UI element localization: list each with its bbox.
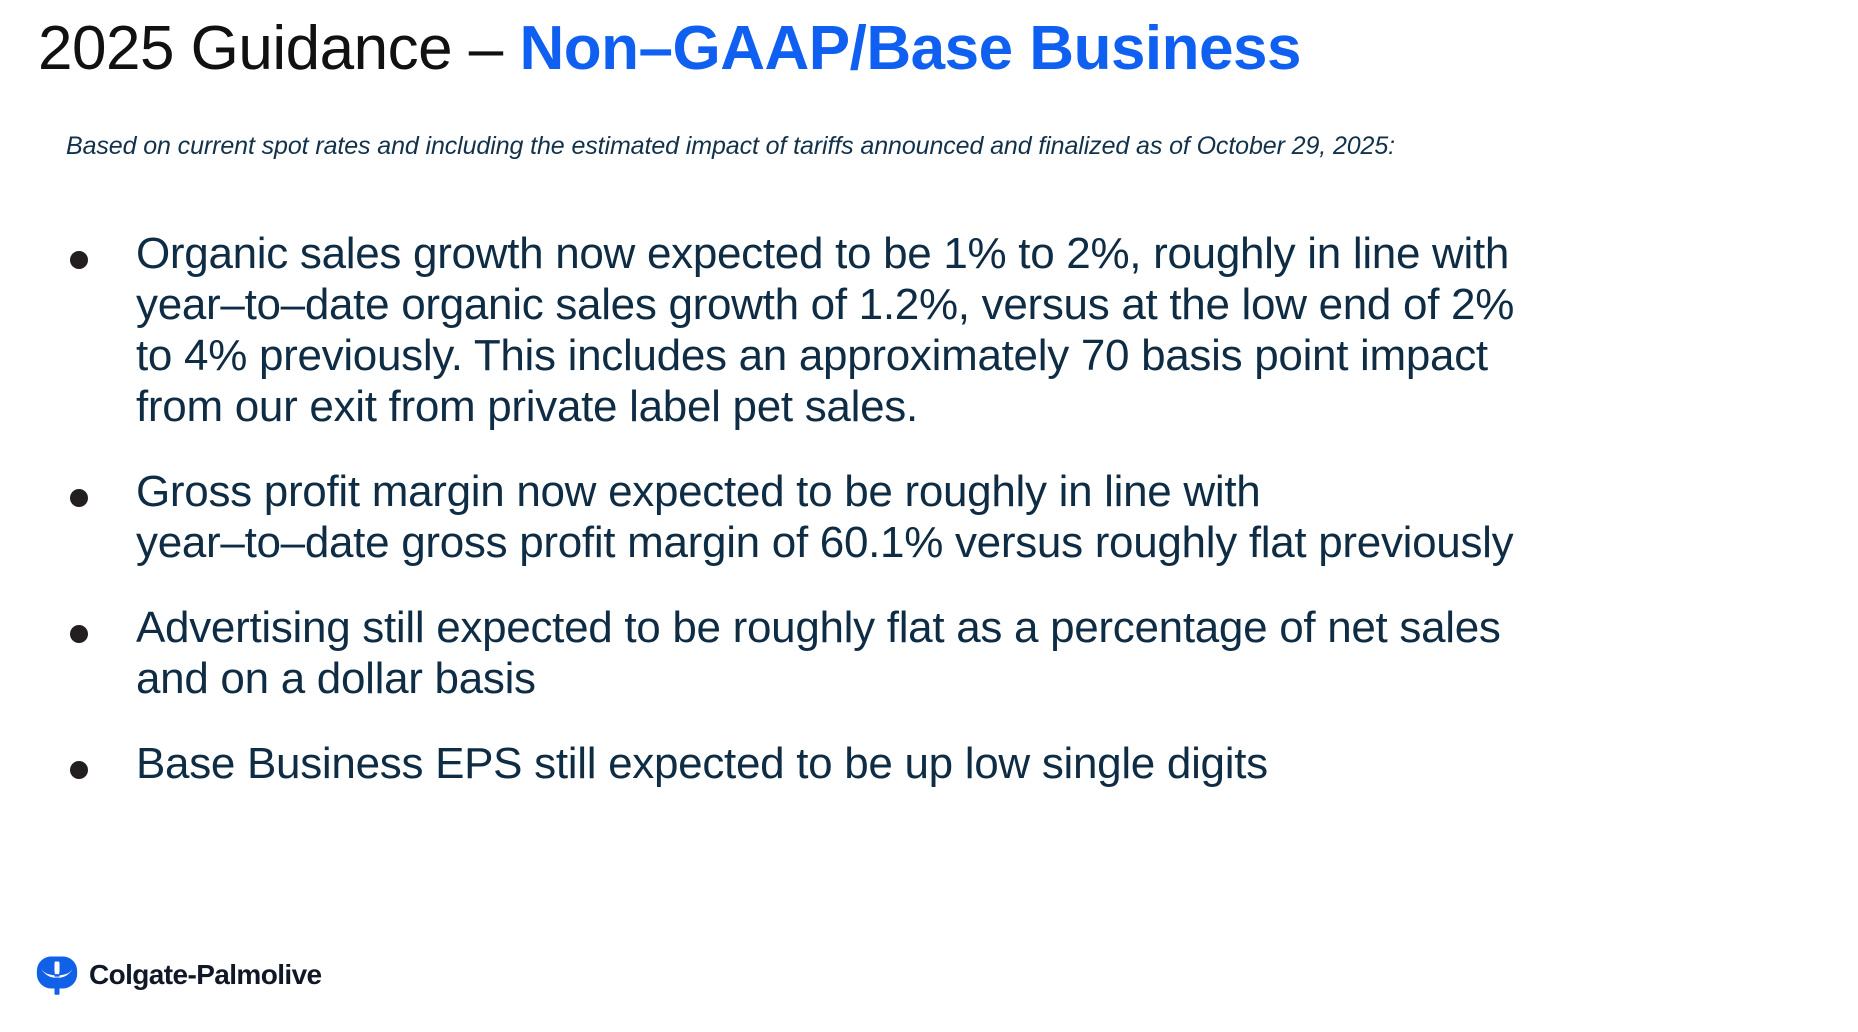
bullet-line: Base Business EPS still expected to be u… <box>136 738 1850 789</box>
bullet-text-organic-sales-growth: Organic sales growth now expected to be … <box>136 228 1850 432</box>
bullet-line: to 4% previously. This includes an appro… <box>136 330 1850 381</box>
bullet-line: Gross profit margin now expected to be r… <box>136 466 1850 517</box>
bullet-line: Advertising still expected to be roughly… <box>136 602 1850 653</box>
colgate-palmolive-wordmark: Colgate-Palmolive <box>89 961 322 989</box>
list-item: Gross profit margin now expected to be r… <box>70 466 1850 568</box>
colgate-palmolive-mark-icon <box>36 954 78 996</box>
bullet-dot-icon <box>70 738 136 784</box>
bullet-text-base-business-eps: Base Business EPS still expected to be u… <box>136 738 1850 789</box>
colgate-palmolive-logo: Colgate-Palmolive <box>36 954 322 996</box>
bullet-line: year–to–date gross profit margin of 60.1… <box>136 517 1850 568</box>
page-title-main: 2025 Guidance – <box>38 14 520 83</box>
bullet-line: Organic sales growth now expected to be … <box>136 228 1850 279</box>
list-item: Organic sales growth now expected to be … <box>70 228 1850 432</box>
bullet-dot-icon <box>70 602 136 648</box>
bullet-dot-icon <box>70 466 136 512</box>
bullet-line: year–to–date organic sales growth of 1.2… <box>136 279 1850 330</box>
bullet-text-advertising: Advertising still expected to be roughly… <box>136 602 1850 704</box>
list-item: Base Business EPS still expected to be u… <box>70 738 1850 789</box>
slide-canvas: 2025 Guidance – Non–GAAP/Base Business B… <box>0 0 1858 1032</box>
guidance-bullet-list: Organic sales growth now expected to be … <box>70 228 1850 823</box>
page-title-accent: Non–GAAP/Base Business <box>520 14 1301 83</box>
bullet-line: and on a dollar basis <box>136 653 1850 704</box>
page-title: 2025 Guidance – Non–GAAP/Base Business <box>38 18 1301 80</box>
bullet-text-gross-profit-margin: Gross profit margin now expected to be r… <box>136 466 1850 568</box>
bullet-line: from our exit from private label pet sal… <box>136 381 1850 432</box>
subtitle-note: Based on current spot rates and includin… <box>66 132 1395 161</box>
list-item: Advertising still expected to be roughly… <box>70 602 1850 704</box>
bullet-dot-icon <box>70 228 136 274</box>
